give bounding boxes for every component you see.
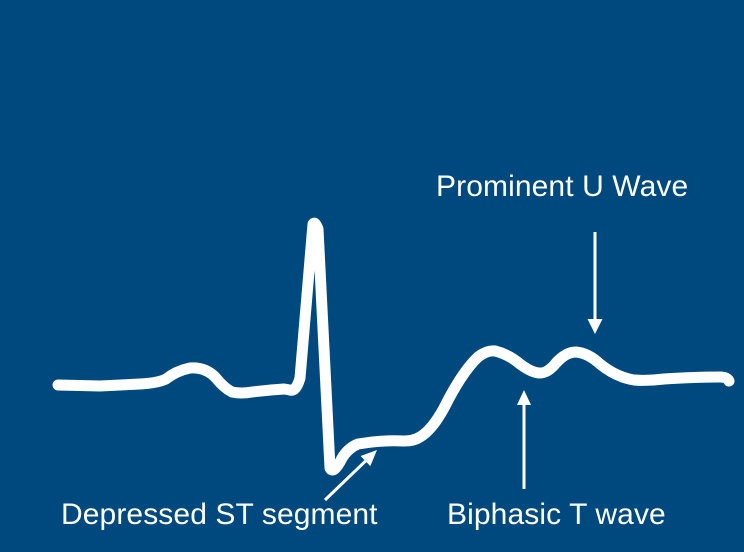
label-prominent-u-wave: Prominent U Wave (436, 172, 688, 202)
u-wave-annotation-arrow (588, 232, 603, 334)
t-wave-annotation-arrow (517, 390, 531, 489)
label-biphasic-t-wave: Biphasic T wave (447, 500, 666, 530)
t-wave-arrowhead-icon (517, 390, 531, 405)
u-wave-arrowhead-icon (588, 319, 603, 334)
label-depressed-st-segment: Depressed ST segment (61, 500, 378, 530)
ecg-canvas (0, 0, 744, 552)
ecg-diagram: Prominent U Wave Depressed ST segment Bi… (0, 0, 744, 552)
ecg-waveform-trace (58, 223, 729, 470)
